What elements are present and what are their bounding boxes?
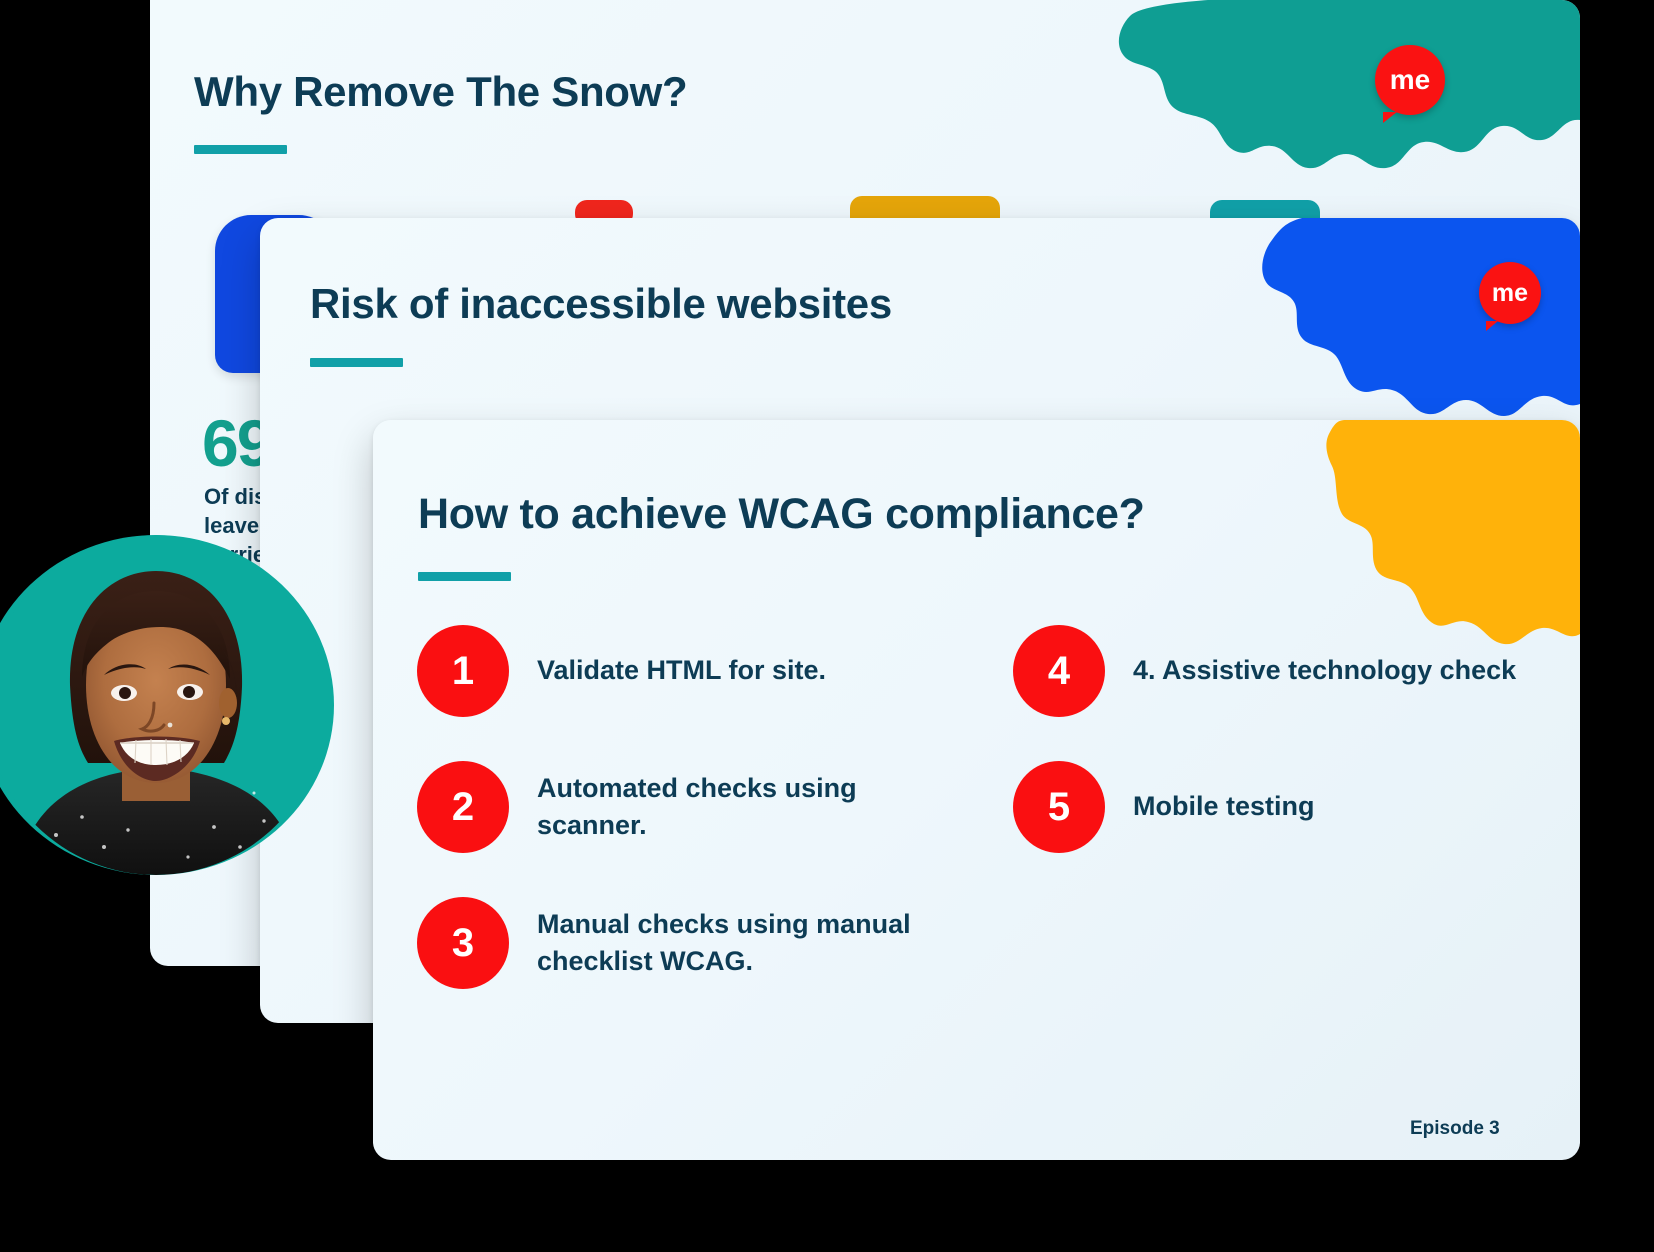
me-logo-text: me bbox=[1390, 64, 1430, 96]
step-number-badge: 5 bbox=[1013, 761, 1105, 853]
me-logo-bubble[interactable]: me bbox=[1479, 262, 1541, 324]
title-underline-card-2 bbox=[310, 358, 403, 367]
bubble-tail-icon bbox=[1486, 321, 1498, 331]
title-underline-card-3 bbox=[418, 572, 511, 581]
me-logo-text: me bbox=[1492, 279, 1528, 308]
step-label: 4. Assistive technology check bbox=[1133, 652, 1516, 689]
teal-blob-decoration bbox=[1110, 0, 1580, 200]
card-how-to-achieve-wcag-compliance[interactable]: How to achieve WCAG compliance? 1 Valida… bbox=[373, 420, 1580, 1160]
step-number-badge: 2 bbox=[417, 761, 509, 853]
list-item[interactable]: 1 Validate HTML for site. bbox=[417, 625, 826, 717]
list-item[interactable]: 5 Mobile testing bbox=[1013, 761, 1315, 853]
title-underline-card-1 bbox=[194, 145, 287, 154]
step-label: Validate HTML for site. bbox=[537, 652, 826, 689]
step-number-badge: 3 bbox=[417, 897, 509, 989]
bubble-tail-icon bbox=[1383, 112, 1397, 123]
page-title-card-2: Risk of inaccessible websites bbox=[310, 280, 892, 328]
page-title-card-1: Why Remove The Snow? bbox=[194, 68, 687, 116]
step-number-badge: 1 bbox=[417, 625, 509, 717]
page-title-card-3: How to achieve WCAG compliance? bbox=[418, 490, 1145, 539]
step-label: Mobile testing bbox=[1133, 788, 1315, 825]
episode-label: Episode 3 bbox=[1410, 1118, 1500, 1140]
list-item[interactable]: 2 Automated checks using scanner. bbox=[417, 761, 867, 853]
step-label: Manual checks using manual checklist WCA… bbox=[537, 906, 927, 981]
slide-stack: me Why Remove The Snow? 69% Of dis leave… bbox=[0, 0, 1654, 1252]
me-logo-bubble[interactable]: me bbox=[1375, 45, 1445, 115]
list-item[interactable]: 4 4. Assistive technology check bbox=[1013, 625, 1516, 717]
yellow-blob-decoration bbox=[1280, 420, 1580, 645]
step-label: Automated checks using scanner. bbox=[537, 770, 867, 845]
step-number-badge: 4 bbox=[1013, 625, 1105, 717]
list-item[interactable]: 3 Manual checks using manual checklist W… bbox=[417, 897, 927, 989]
